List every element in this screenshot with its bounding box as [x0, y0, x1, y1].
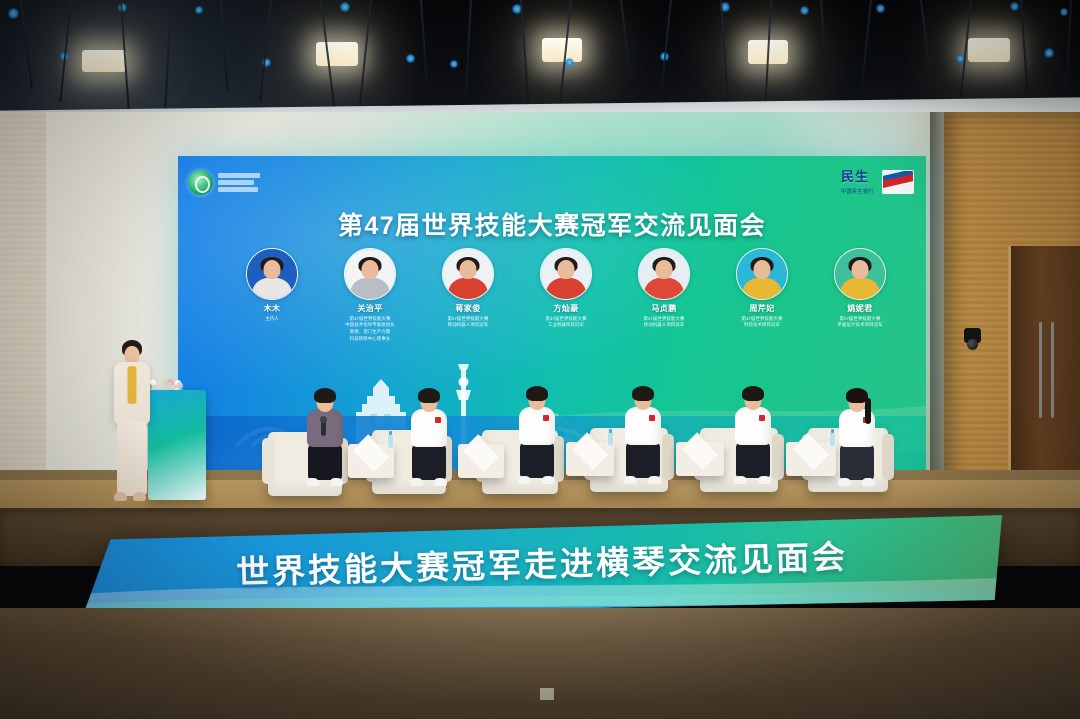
china-minsheng-bank-logo-icon: [882, 170, 914, 194]
door: [1008, 246, 1080, 504]
avatar-face: [558, 260, 575, 279]
champion-description: 第47届世界技能大赛时装技术项目冠军: [724, 316, 800, 330]
champion-card-6: 周芹妃第47届世界技能大赛时装技术项目冠军: [724, 248, 800, 343]
panelist-4: [614, 390, 672, 488]
champion-name: 马贞鹏: [626, 303, 702, 314]
floor-marker: [540, 688, 554, 700]
avatar: [246, 248, 298, 300]
host-blouse: [128, 366, 137, 404]
panelist-shoe-right: [330, 478, 343, 486]
avatar-face: [754, 260, 771, 279]
ceiling-light-1: [82, 50, 126, 72]
ceiling-accent-light: [1010, 2, 1019, 11]
champion-card-2: 关治平第47届世界技能大赛中国技术指导专家组组长教授、澳门生产力暨科技转移中心理…: [332, 248, 408, 343]
avatar-face: [362, 260, 379, 279]
panelist-hair: [632, 386, 654, 401]
panelist-badge: [649, 415, 655, 421]
host-shoe-right: [133, 492, 146, 501]
panelist-legs: [412, 444, 446, 480]
champion-name: 姚妮君: [822, 303, 898, 314]
avatar-face: [852, 260, 869, 279]
champion-description: 第47届世界技能大赛移动机器人项目冠军: [430, 316, 506, 330]
minsheng-wordmark: 民生 中国民生银行: [841, 168, 874, 195]
panelist-5: [724, 390, 782, 488]
champion-description: 第47届世界技能大赛中国技术指导专家组组长教授、澳门生产力暨科技转移中心理事长: [332, 316, 408, 343]
panelist-hair: [526, 386, 548, 401]
side-table: [458, 444, 504, 478]
ceiling-truss: [20, 0, 33, 89]
host-presenter: [108, 340, 156, 512]
panelist-shoe-left: [838, 478, 851, 486]
champion-description: 主持人: [234, 316, 310, 323]
floor-banner: 世界技能大赛冠军走进横琴交流见面会: [82, 512, 1002, 618]
ceiling-accent-light: [406, 54, 415, 63]
panelist-shoe-right: [648, 476, 661, 484]
panelist-shoe-left: [734, 476, 747, 484]
podium: [148, 390, 206, 500]
panelist-3: [508, 390, 566, 488]
world-skills-wordmark: [218, 173, 260, 192]
panelist-badge: [543, 415, 549, 421]
flower: [176, 382, 183, 389]
ceiling-truss: [620, 0, 633, 89]
champion-card-7: 姚妮君第47届世界技能大赛平面设计技术项目冠军: [822, 248, 898, 343]
door-handle-right: [1051, 322, 1054, 418]
panelist-shoe-left: [306, 478, 319, 486]
ceiling-truss: [720, 0, 730, 114]
ceiling-truss: [1020, 0, 1028, 90]
side-table: [676, 442, 724, 476]
panelist-badge: [759, 415, 765, 421]
flower: [166, 382, 172, 388]
panelist-legs: [736, 442, 770, 478]
microphone: [321, 420, 326, 436]
ceiling-accent-light: [800, 6, 809, 15]
ceiling-light-2: [316, 42, 358, 66]
panelist-legs: [840, 444, 874, 480]
panelist-shoe-left: [410, 478, 423, 486]
avatar-face: [460, 260, 477, 279]
host-shoe-left: [114, 492, 127, 501]
ceiling-accent-light: [565, 58, 574, 67]
champion-name: 周芹妃: [724, 303, 800, 314]
champion-card-3: 蒋家俊第47届世界技能大赛移动机器人项目冠军: [430, 248, 506, 343]
ceiling-accent-light: [1060, 8, 1068, 16]
water-bottle: [608, 432, 613, 446]
panelist-legs: [626, 442, 660, 478]
panelist-torso: [411, 409, 447, 447]
event-photo-scene: 民生 中国民生银行 第47届世界技能大赛冠军交流见面会 木木主持人关治平第47届…: [0, 0, 1080, 719]
panelist-legs: [520, 442, 554, 478]
door-handle-left: [1039, 322, 1042, 418]
ceiling-truss: [820, 0, 828, 90]
ceiling-truss: [420, 0, 428, 90]
avatar-body: [448, 278, 488, 300]
floor-sheen: [0, 608, 1080, 719]
panelist-shoe-right: [542, 476, 555, 484]
panelist-shoe-right: [434, 478, 447, 486]
panelist-hair: [314, 388, 336, 403]
panelist-torso: [735, 407, 771, 445]
ceiling-truss: [59, 0, 72, 102]
ceiling-truss: [259, 0, 272, 102]
champion-name: 方灿豪: [528, 303, 604, 314]
ceiling-light-3: [542, 38, 582, 62]
avatar-body: [252, 278, 292, 300]
champion-card-4: 方灿豪第47届世界技能大赛工业机械项目冠军: [528, 248, 604, 343]
avatar-body: [546, 278, 586, 300]
avatar: [540, 248, 592, 300]
ceiling-accent-light: [8, 8, 19, 19]
champion-name: 蒋家俊: [430, 303, 506, 314]
avatar: [736, 248, 788, 300]
champion-description: 第47届世界技能大赛平面设计技术项目冠军: [822, 316, 898, 330]
panelist-torso: [625, 407, 661, 445]
ceiling-light-5: [968, 38, 1010, 62]
world-skills-emblem-icon: [188, 170, 213, 195]
event-logo-left: [188, 170, 260, 195]
ceiling-truss: [520, 0, 530, 114]
champion-description: 第47届世界技能大赛移动机器人项目冠军: [626, 316, 702, 330]
avatar-face: [264, 260, 281, 279]
ceiling-truss: [220, 0, 228, 90]
panelist-shoe-left: [518, 476, 531, 484]
champion-card-1: 木木主持人: [234, 248, 310, 343]
avatar: [442, 248, 494, 300]
panelist-ponytail: [865, 398, 871, 424]
panelist-hair: [418, 388, 440, 403]
avatar-face: [656, 260, 673, 279]
avatar: [638, 248, 690, 300]
panelist-2: [400, 392, 458, 490]
panelist-1: [296, 392, 354, 490]
side-table: [348, 444, 394, 478]
avatar-body: [350, 278, 390, 300]
champion-name: 木木: [234, 303, 310, 314]
ceiling-accent-light: [195, 6, 203, 14]
ceiling-accent-light: [1044, 48, 1054, 58]
panelist-hair: [742, 386, 764, 401]
champion-description: 第47届世界技能大赛工业机械项目冠军: [528, 316, 604, 330]
panelist-shoe-left: [624, 476, 637, 484]
panelist-badge: [435, 417, 441, 423]
avatar-body: [742, 278, 782, 300]
avatar-body: [644, 278, 684, 300]
champions-row: 木木主持人关治平第47届世界技能大赛中国技术指导专家组组长教授、澳门生产力暨科技…: [234, 248, 898, 343]
ceiling-truss: [859, 0, 872, 102]
avatar: [344, 248, 396, 300]
ceiling-truss: [163, 0, 172, 126]
ceiling-accent-light: [450, 60, 458, 68]
ceiling-truss: [465, 0, 472, 102]
ceiling-truss: [920, 0, 936, 113]
camera-icon: [964, 328, 981, 343]
panelist-shoe-right: [862, 478, 875, 486]
side-table: [566, 442, 614, 476]
ceiling-accent-light: [876, 4, 885, 13]
ceiling-truss: [659, 0, 672, 102]
champion-card-5: 马贞鹏第47届世界技能大赛移动机器人项目冠军: [626, 248, 702, 343]
panelist-torso: [519, 407, 555, 445]
screen-title: 第47届世界技能大赛冠军交流见面会: [178, 206, 926, 242]
ceiling-accent-light: [340, 2, 350, 12]
sponsor-logos: 民生 中国民生银行: [841, 168, 914, 195]
panelist-shoe-right: [758, 476, 771, 484]
avatar: [834, 248, 886, 300]
panelist-6: [828, 392, 886, 490]
water-bottle: [388, 434, 393, 448]
avatar-body: [840, 278, 880, 300]
champion-name: 关治平: [332, 303, 408, 314]
panelist-legs: [308, 444, 342, 480]
host-trousers: [117, 422, 147, 496]
